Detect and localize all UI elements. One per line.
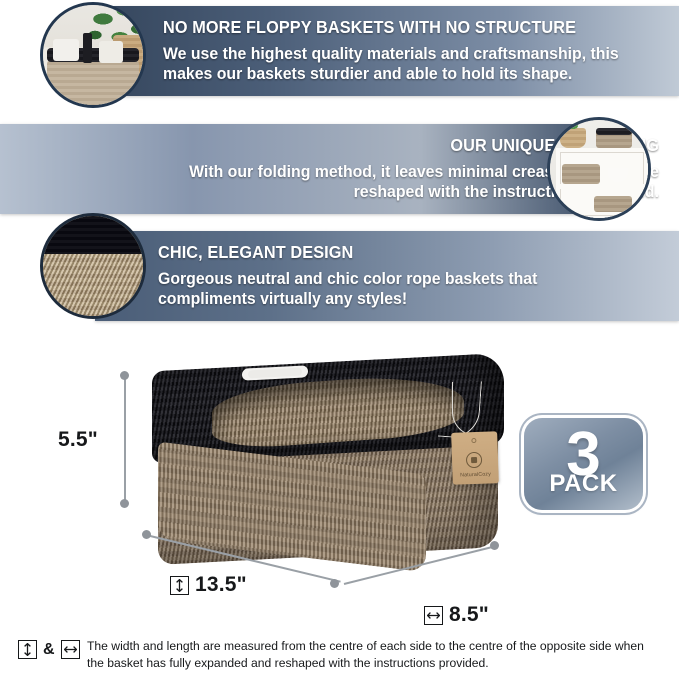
length-dimension-value: 13.5": [195, 573, 247, 597]
height-dim-dot-bottom: [120, 499, 129, 508]
feature-banner-structure-text: NO MORE FLOPPY BASKETS WITH NO STRUCTURE…: [163, 18, 663, 85]
length-dimension-label: 13.5": [170, 573, 247, 597]
height-dim-dot-top: [120, 371, 129, 380]
basket-with-plants-photo: [43, 5, 143, 105]
basket-shape: [47, 59, 139, 107]
shelf-with-baskets-photo: [550, 120, 648, 218]
feature-body-structure: We use the highest quality materials and…: [163, 44, 643, 84]
vertical-arrow-icon: [170, 576, 189, 595]
hangtag-hole: [471, 438, 476, 443]
hangtag-brand-name: NaturalCozy: [453, 471, 499, 479]
footnote-icons: &: [18, 640, 80, 659]
feature-heading-structure: NO MORE FLOPPY BASKETS WITH NO STRUCTURE: [163, 18, 628, 37]
pack-count-label: PACK: [549, 472, 617, 496]
width-dim-dot-end: [490, 541, 499, 550]
horizontal-arrow-icon: [424, 606, 443, 625]
width-dimension-value: 8.5": [449, 603, 489, 627]
measurement-footnote: & The width and length are measured from…: [18, 638, 668, 671]
towel-shape: [53, 39, 79, 61]
product-infographic: NO MORE FLOPPY BASKETS WITH NO STRUCTURE…: [0, 0, 679, 673]
feature-banner-design-text: CHIC, ELEGANT DESIGN Gorgeous neutral an…: [158, 243, 658, 310]
horizontal-arrow-icon-footnote: [61, 640, 80, 659]
product-dimension-diagram: NaturalCozy 5.5" 13.5": [0, 330, 679, 630]
shelf-basket-2: [562, 164, 600, 184]
rope-texture-photo: [43, 216, 143, 316]
feature-photo-structure: [40, 2, 146, 108]
shelf-basket-3: [594, 196, 632, 212]
shelf-divider-shape: [556, 184, 648, 189]
feature-photo-design: [40, 213, 146, 319]
towel-shape-2: [99, 41, 123, 63]
feature-photo-packaging: [547, 117, 651, 221]
height-dimension-value: 5.5": [58, 428, 98, 452]
footnote-ampersand: &: [43, 641, 55, 659]
shelf-basket-1-rim: [596, 128, 632, 135]
height-dimension-line: [124, 375, 126, 507]
feature-heading-design: CHIC, ELEGANT DESIGN: [158, 243, 623, 262]
width-dimension-label: 8.5": [424, 603, 489, 627]
brand-hangtag: NaturalCozy: [451, 431, 499, 485]
potted-plant-shape: [560, 128, 586, 148]
length-dim-dot-start: [142, 530, 151, 539]
height-dimension-label: 5.5": [58, 428, 98, 452]
pack-count-badge: 3 PACK: [524, 418, 643, 510]
feature-body-design: Gorgeous neutral and chic color rope bas…: [158, 269, 638, 309]
footnote-text: The width and length are measured from t…: [87, 638, 657, 671]
basket-illustration: NaturalCozy: [152, 362, 508, 562]
length-dim-dot-end: [330, 579, 339, 588]
vertical-arrow-icon-footnote: [18, 640, 37, 659]
brand-logo-icon: [466, 452, 483, 469]
bottle-shape: [83, 33, 92, 63]
